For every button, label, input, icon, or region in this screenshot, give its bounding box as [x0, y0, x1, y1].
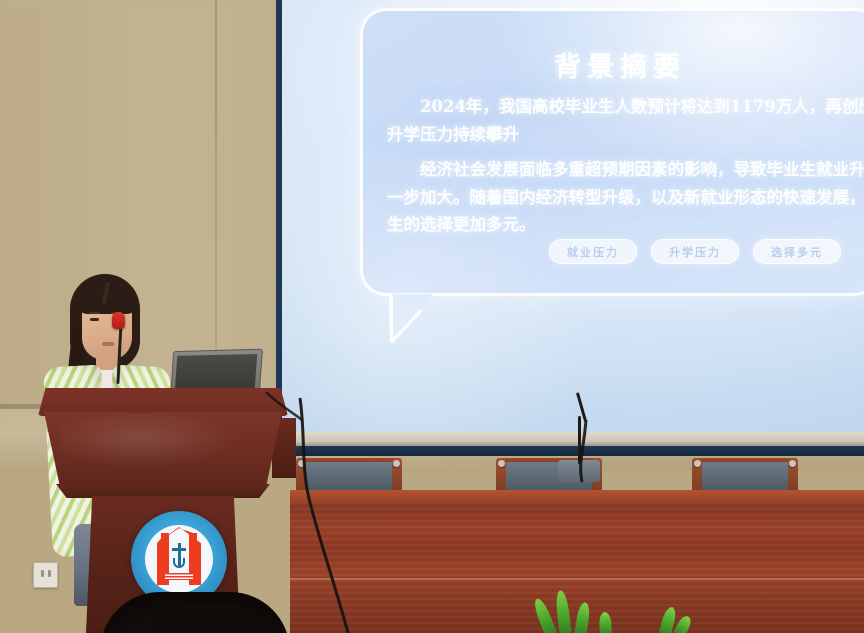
podium-top	[38, 388, 288, 416]
chair-knob	[298, 460, 305, 467]
slide-tag-pill: 选择多元	[753, 239, 841, 264]
slide-tag-row: 就业压力 升学压力 选择多元	[363, 239, 864, 264]
anchor-icon	[172, 543, 186, 569]
slide-line-5: 生的选择更加多元。	[387, 211, 864, 239]
decorative-plant	[540, 588, 690, 633]
crest-ribbon	[165, 573, 193, 580]
speech-bubble-tail-stroke	[390, 295, 393, 342]
microphone-icon	[112, 312, 125, 329]
presenter-eyebrow	[89, 312, 100, 314]
plant-leaf	[554, 590, 572, 633]
chair-knob	[498, 460, 505, 467]
slide-body-text: 2024年，我国高校毕业生人数预计将达到1179万人，再创历史新高， 升学压力持…	[387, 93, 864, 239]
presenter-mouth	[102, 342, 114, 346]
slide-title: 背景摘要	[363, 45, 864, 84]
anchor-arc	[173, 558, 185, 568]
ceiling-edge	[0, 0, 280, 6]
slide-line-4: 一步加大。随着国内经济转型升级，以及新就业形态的快速发展，毕	[387, 184, 864, 212]
slide-tag-pill: 升学压力	[651, 239, 739, 264]
paragraph-gap	[387, 148, 864, 156]
conference-table-edge	[290, 490, 864, 502]
plant-leaf	[574, 601, 591, 633]
slide-tag-pill: 就业压力	[549, 239, 637, 264]
slide-line-3: 经济社会发展面临多重超预期因素的影响，导致毕业生就业升学难	[387, 156, 864, 184]
slide-line-2: 升学压力持续攀升	[387, 121, 864, 149]
laptop-screen	[175, 354, 257, 393]
plant-leaf	[599, 612, 612, 633]
conference-table-groove	[290, 578, 864, 580]
presentation-photo-scene: 背景摘要 2024年，我国高校毕业生人数预计将达到1179万人，再创历史新高， …	[0, 0, 864, 633]
table-microphone-stem	[578, 416, 581, 464]
podium-body	[44, 412, 282, 490]
screen-bottom-frame	[276, 446, 864, 456]
presenter-eye	[90, 318, 99, 321]
chair-knob	[393, 460, 400, 467]
slide-speech-bubble: 背景摘要 2024年，我国高校毕业生人数预计将达到1179万人，再创历史新高， …	[360, 8, 864, 296]
chair-knob	[694, 460, 701, 467]
podium-lip	[56, 484, 270, 498]
slide-line-1: 2024年，我国高校毕业生人数预计将达到1179万人，再创历史新高，	[387, 93, 864, 121]
chair-knob	[789, 460, 796, 467]
